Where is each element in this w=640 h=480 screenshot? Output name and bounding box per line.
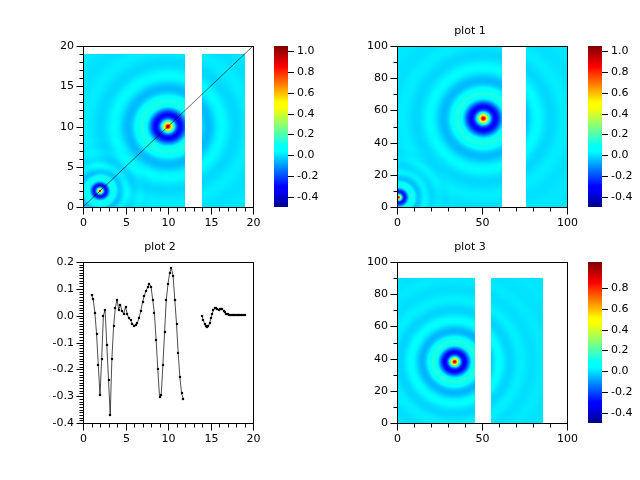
figure-canvas-root: plot 1 plot 2 plot 3 [0,0,640,480]
panel-top-left-plot-area[interactable] [0,0,320,240]
panel-top-left[interactable] [0,0,320,240]
panel-bottom-left[interactable]: plot 2 [0,240,320,480]
panel-bottom-right-plot-area[interactable] [320,240,640,480]
panel-bottom-left-plot-area[interactable] [0,240,320,480]
panel-bottom-right[interactable]: plot 3 [320,240,640,480]
panel-top-right[interactable]: plot 1 [320,0,640,240]
panel-top-right-plot-area[interactable] [320,0,640,240]
